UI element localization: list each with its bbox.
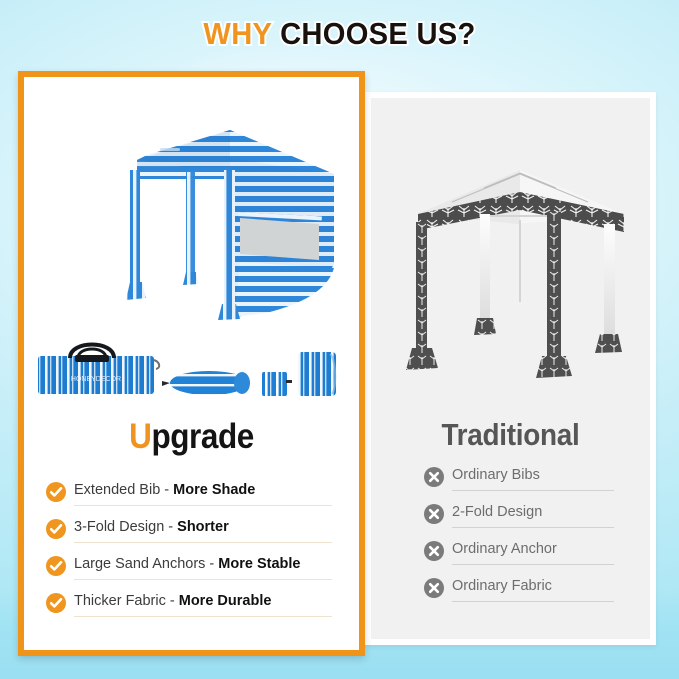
list-item-rule [452, 490, 614, 491]
svg-text:HONEYDECOR: HONEYDECOR [71, 376, 121, 383]
list-item-rule [452, 601, 614, 602]
page-title-rest: CHOOSE US? [280, 16, 475, 51]
page-title: WHY CHOOSE US? [20, 16, 658, 52]
list-item-label: 2-Fold Design [452, 502, 542, 523]
check-circle-icon [46, 593, 66, 613]
list-item: 3-Fold Design - Shorter [46, 517, 336, 554]
list-item-label: Ordinary Fabric [452, 576, 552, 597]
upgrade-canopy-image [34, 112, 352, 324]
list-item-rule [452, 527, 614, 528]
upgrade-feature-list: Extended Bib - More Shade 3-Fold Design … [46, 480, 336, 628]
list-item-label: Ordinary Bibs [452, 465, 540, 486]
list-item-label: Large Sand Anchors - More Stable [74, 554, 300, 575]
traditional-feature-list: Ordinary Bibs 2-Fold Design Ordinary Anc… [424, 465, 654, 613]
list-item-emphasis: More Durable [179, 593, 272, 609]
page-title-highlight: WHY [203, 16, 280, 51]
list-item-rule [74, 542, 332, 543]
list-item: Extended Bib - More Shade [46, 480, 336, 517]
traditional-canopy-image [392, 162, 648, 388]
list-item-text: 3-Fold Design - [74, 519, 177, 535]
check-circle-icon [46, 519, 66, 539]
list-item-label: Extended Bib - More Shade [74, 480, 255, 501]
check-circle-icon [46, 482, 66, 502]
list-item: Large Sand Anchors - More Stable [46, 554, 336, 591]
upgrade-heading-initial: U [129, 417, 151, 456]
x-circle-icon [424, 541, 444, 561]
upgrade-accessories-image: HONEYDECOR [34, 334, 352, 410]
list-item-emphasis: Shorter [177, 519, 229, 535]
list-item: Ordinary Fabric [424, 576, 654, 613]
x-circle-icon [424, 504, 444, 524]
list-item: 2-Fold Design [424, 502, 654, 539]
x-circle-icon [424, 578, 444, 598]
list-item-emphasis: More Shade [173, 482, 255, 498]
x-circle-icon [424, 467, 444, 487]
list-item-text: Extended Bib - [74, 482, 173, 498]
list-item-rule [74, 579, 332, 580]
list-item: Ordinary Anchor [424, 539, 654, 576]
list-item-text: Large Sand Anchors - [74, 556, 218, 572]
check-circle-icon [46, 556, 66, 576]
list-item-emphasis: More Stable [218, 556, 300, 572]
list-item-label: Ordinary Anchor [452, 539, 557, 560]
traditional-heading: Traditional [384, 417, 637, 453]
list-item-text: Thicker Fabric - [74, 593, 179, 609]
list-item: Ordinary Bibs [424, 465, 654, 502]
infographic-root: WHY CHOOSE US? [0, 0, 679, 679]
list-item-rule [452, 564, 614, 565]
list-item: Thicker Fabric - More Durable [46, 591, 336, 628]
list-item-label: Thicker Fabric - More Durable [74, 591, 271, 612]
list-item-rule [74, 616, 332, 617]
list-item-rule [74, 505, 332, 506]
upgrade-heading-rest: pgrade [151, 417, 253, 456]
list-item-label: 3-Fold Design - Shorter [74, 517, 229, 538]
upgrade-heading: Upgrade [41, 417, 343, 457]
